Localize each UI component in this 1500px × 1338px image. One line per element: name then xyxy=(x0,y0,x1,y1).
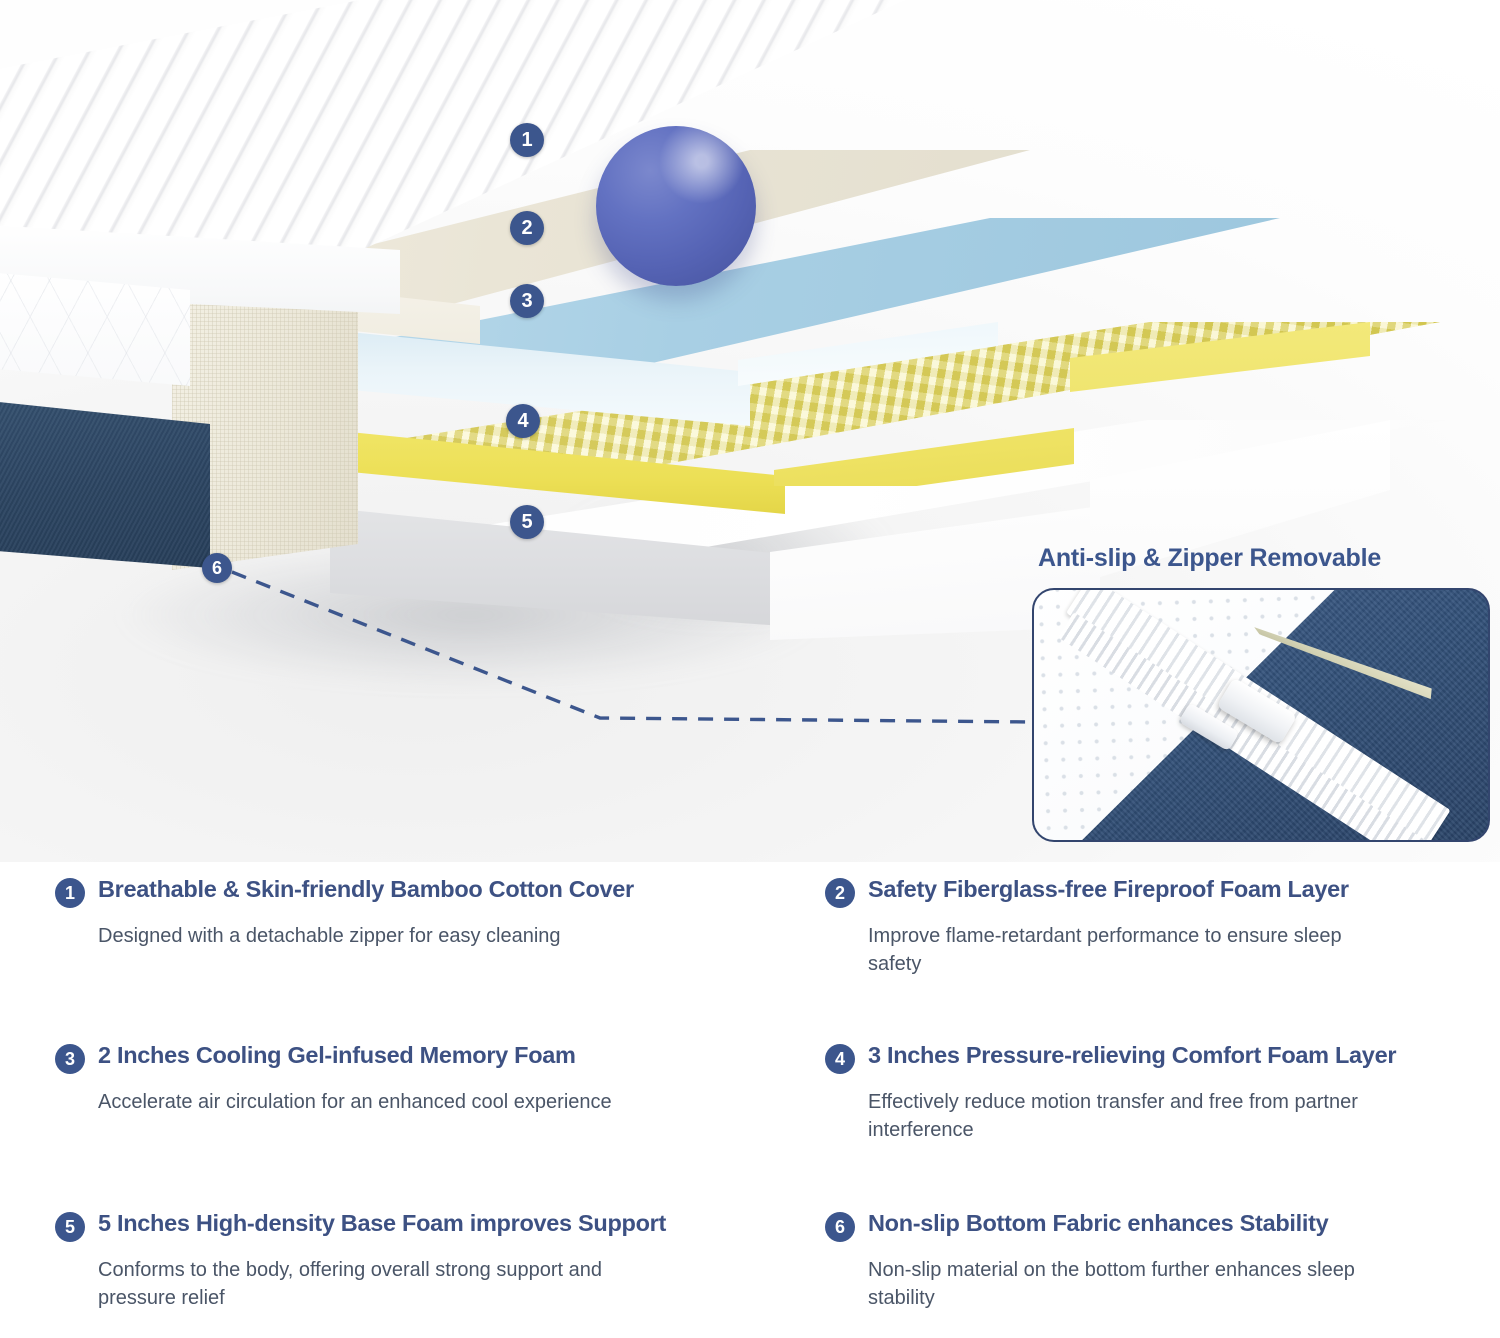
feature-2-badge: 2 xyxy=(825,878,855,908)
pressure-demo-sphere xyxy=(596,126,756,286)
feature-4-title: 3 Inches Pressure-relieving Comfort Foam… xyxy=(868,1042,1396,1070)
feature-1-title: Breathable & Skin-friendly Bamboo Cotton… xyxy=(98,876,634,904)
feature-4-badge: 4 xyxy=(825,1044,855,1074)
feature-2-description: Improve flame-retardant performance to e… xyxy=(868,922,1388,979)
diagram-badge-6: 6 xyxy=(202,553,232,583)
feature-6-head: 6 Non-slip Bottom Fabric enhances Stabil… xyxy=(825,1210,1500,1242)
feature-6-badge: 6 xyxy=(825,1212,855,1242)
feature-5-head: 5 5 Inches High-density Base Foam improv… xyxy=(55,1210,755,1242)
zipper-closeup-inset xyxy=(1032,588,1490,842)
feature-3-title: 2 Inches Cooling Gel-infused Memory Foam xyxy=(98,1042,576,1070)
feature-2-head: 2 Safety Fiberglass-free Fireproof Foam … xyxy=(825,876,1500,908)
product-infographic: 1 2 3 4 5 6 Anti-slip & Zipper Removable… xyxy=(0,0,1500,1338)
mattress-cutaway-illustration: 1 2 3 4 5 6 Anti-slip & Zipper Removable xyxy=(0,0,1500,862)
feature-list: 1 Breathable & Skin-friendly Bamboo Cott… xyxy=(0,862,1500,1338)
feature-5-badge: 5 xyxy=(55,1212,85,1242)
feature-1-description: Designed with a detachable zipper for ea… xyxy=(98,922,628,950)
feature-item-4: 4 3 Inches Pressure-relieving Comfort Fo… xyxy=(825,1042,1500,1145)
feature-item-6: 6 Non-slip Bottom Fabric enhances Stabil… xyxy=(825,1210,1500,1313)
feature-item-2: 2 Safety Fiberglass-free Fireproof Foam … xyxy=(825,876,1500,979)
feature-3-badge: 3 xyxy=(55,1044,85,1074)
feature-3-head: 3 2 Inches Cooling Gel-infused Memory Fo… xyxy=(55,1042,755,1074)
feature-5-title: 5 Inches High-density Base Foam improves… xyxy=(98,1210,666,1238)
feature-2-title: Safety Fiberglass-free Fireproof Foam La… xyxy=(868,876,1349,904)
diagram-badge-4: 4 xyxy=(506,404,540,438)
inset-title: Anti-slip & Zipper Removable xyxy=(1038,544,1381,573)
diagram-badge-2: 2 xyxy=(510,211,544,245)
feature-item-5: 5 5 Inches High-density Base Foam improv… xyxy=(55,1210,755,1313)
feature-5-description: Conforms to the body, offering overall s… xyxy=(98,1256,628,1313)
feature-1-head: 1 Breathable & Skin-friendly Bamboo Cott… xyxy=(55,876,755,908)
feature-6-title: Non-slip Bottom Fabric enhances Stabilit… xyxy=(868,1210,1328,1238)
feature-3-description: Accelerate air circulation for an enhanc… xyxy=(98,1088,628,1116)
diagram-badge-5: 5 xyxy=(510,505,544,539)
diagram-badge-1: 1 xyxy=(510,123,544,157)
diagram-badge-3: 3 xyxy=(510,284,544,318)
feature-4-description: Effectively reduce motion transfer and f… xyxy=(868,1088,1388,1145)
feature-1-badge: 1 xyxy=(55,878,85,908)
feature-6-description: Non-slip material on the bottom further … xyxy=(868,1256,1388,1313)
feature-item-1: 1 Breathable & Skin-friendly Bamboo Cott… xyxy=(55,876,755,950)
feature-item-3: 3 2 Inches Cooling Gel-infused Memory Fo… xyxy=(55,1042,755,1116)
feature-4-head: 4 3 Inches Pressure-relieving Comfort Fo… xyxy=(825,1042,1500,1074)
